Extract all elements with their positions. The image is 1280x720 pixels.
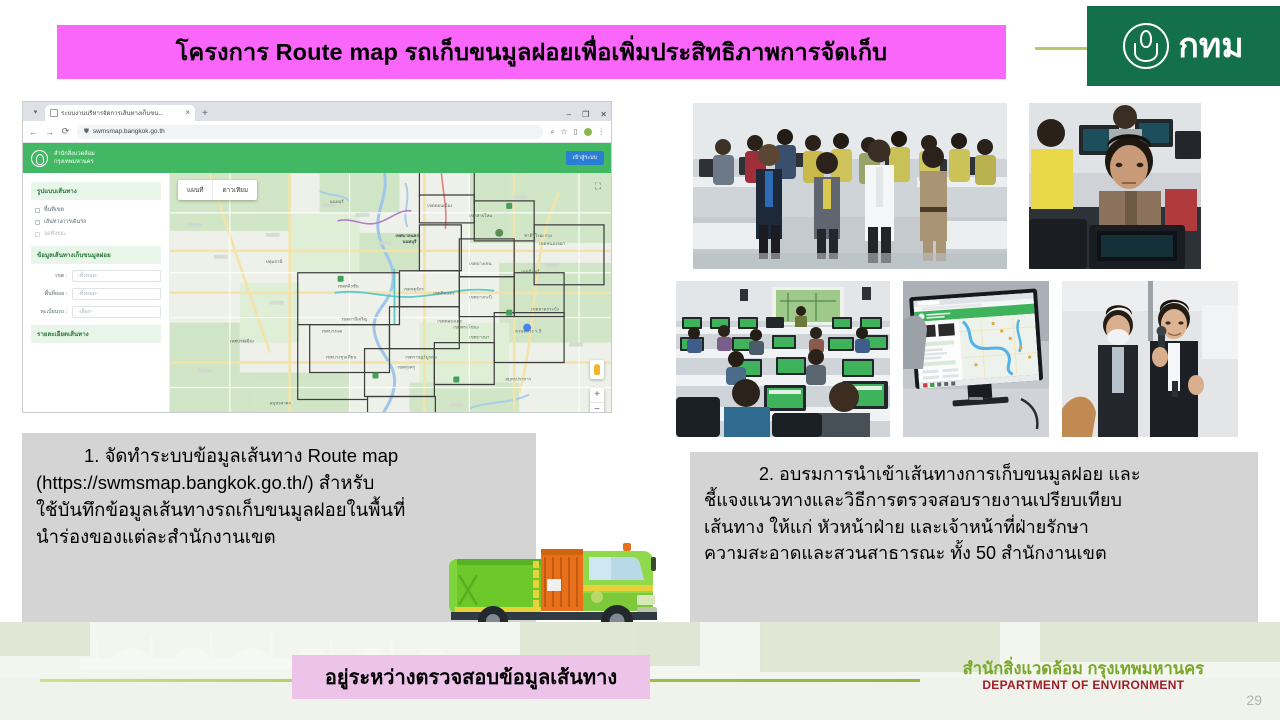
fullscreen-icon[interactable]: ⛶ <box>592 180 604 192</box>
svg-text:เขตราษฎร์บูรณะ: เขตราษฎร์บูรณะ <box>405 355 437 361</box>
svg-text:เขตบางเขน: เขตบางเขน <box>469 262 491 267</box>
bma-logo-label: กทม <box>1178 29 1243 63</box>
department-name-en: DEPARTMENT OF ENVIRONMENT <box>963 679 1204 693</box>
minimize-icon[interactable]: – <box>567 111 571 119</box>
window-controls: – ❐ ✕ <box>567 111 607 119</box>
field-district: เขต : -ทั้งหมด- <box>31 270 161 282</box>
zoom-out-button[interactable]: − <box>590 402 604 413</box>
map-tiles: เทศบาลนคร นนทบุรี นนทบุรี เขตดอนเมือง เข… <box>170 173 611 413</box>
webapp-sidebar: รูปแบบเส้นทาง พื้นที่เขต เส้นทางการเดินร… <box>23 173 170 413</box>
field-label: เขต : <box>31 270 67 280</box>
photo-computer-lab-art <box>676 281 890 437</box>
svg-text:ชาติวิโรฒ กรุง: ชาติวิโรฒ กรุง <box>524 232 552 239</box>
svg-text:เขตบางนา: เขตบางนา <box>469 336 490 341</box>
browser-tab-title: ระบบงานบริหารจัดการเส้นทางเก็บขน... <box>61 108 182 118</box>
webapp-header: สำนักสิ่งแวดล้อม กรุงเทพมหานคร เข้าสู่ระ… <box>23 143 611 173</box>
webapp-body: รูปแบบเส้นทาง พื้นที่เขต เส้นทางการเดินร… <box>23 173 611 413</box>
checkbox-icon <box>35 220 40 225</box>
caption-1-line-1: 1. จัดทำระบบข้อมูลเส้นทาง Route map <box>36 442 522 469</box>
checkbox-label: จุดทิ้งขยะ <box>44 230 67 238</box>
reload-icon[interactable]: ⟳ <box>61 126 70 137</box>
svg-text:นนทบุรี: นนทบุรี <box>402 239 417 245</box>
svg-text:เขตบางกะปิ: เขตบางกะปิ <box>469 295 492 301</box>
photo-monitor-routemap-art <box>903 281 1049 437</box>
close-window-icon[interactable]: ✕ <box>600 111 607 119</box>
field-plate: ทะเบียนรถ : -เลือก- <box>31 306 161 318</box>
browser-tab[interactable]: ระบบงานบริหารจัดการเส้นทางเก็บขน... × <box>45 105 195 121</box>
svg-text:เขตลาดกระบัง: เขตลาดกระบัง <box>531 307 559 313</box>
webapp-org-line2: กรุงเทพมหานคร <box>54 158 95 166</box>
photo-trainee-seated <box>1029 103 1201 269</box>
field-label: พื้นที่ย่อย : <box>31 288 67 298</box>
photo-monitor-routemap <box>903 281 1049 437</box>
map-viewport[interactable]: เทศบาลนคร นนทบุรี นนทบุรี เขตดอนเมือง เข… <box>170 173 611 413</box>
caption-1-line-2: (https://swmsmap.bangkok.go.th/) สำหรับ <box>36 469 522 496</box>
page-number: 29 <box>1246 692 1262 708</box>
pegman-figure <box>594 364 600 375</box>
svg-text:เขตคลองเตย: เขตคลองเตย <box>437 320 462 325</box>
svg-text:เขตมีนบุรี: เขตมีนบุรี <box>521 269 540 275</box>
address-bar[interactable]: ⛊ swmsmap.bangkok.go.th <box>77 125 543 139</box>
photo-computer-lab <box>676 281 890 437</box>
status-badge: อยู่ระหว่างตรวจสอบข้อมูลเส้นทาง <box>292 655 650 699</box>
profile-avatar[interactable] <box>584 128 592 136</box>
sidebar-section-route-data: ข้อมูลเส้นทางเก็บขนมูลฝอย <box>31 246 161 264</box>
close-icon[interactable]: × <box>185 109 190 117</box>
photo-presenters-art <box>1062 281 1238 437</box>
caption-1-line-3: ใช้บันทึกข้อมูลเส้นทางรถเก็บขนมูลฝอยในพื… <box>36 496 522 523</box>
svg-text:สมุทรปราการ: สมุทรปราการ <box>505 377 531 383</box>
slide-root: โครงการ Route map รถเก็บขนมูลฝอยเพื่อเพิ… <box>0 0 1280 720</box>
webapp-org-name: สำนักสิ่งแวดล้อม กรุงเทพมหานคร <box>54 150 95 167</box>
caption-2-line-4: ความสะอาดและสวนสาธารณะ ทั้ง 50 สำนักงานเ… <box>704 540 1244 566</box>
back-icon[interactable]: ← <box>29 127 38 137</box>
svg-text:เทศบาลนคร: เทศบาลนคร <box>395 233 419 239</box>
checkbox-icon <box>35 208 40 213</box>
svg-text:เขตภาษีเจริญ: เขตภาษีเจริญ <box>342 317 368 323</box>
checkbox-label: พื้นที่เขต <box>44 206 64 214</box>
kebab-menu-icon[interactable]: ⋮ <box>598 128 606 136</box>
page-title: โครงการ Route map รถเก็บขนมูลฝอยเพื่อเพิ… <box>176 34 887 71</box>
checkbox-label: เส้นทางการเดินรถ <box>44 218 86 226</box>
zoom-in-button[interactable]: + <box>590 388 604 402</box>
bookmark-star-icon[interactable]: ☆ <box>561 128 568 136</box>
sidebar-section-route-detail: รายละเอียดเส้นทาง <box>31 325 161 343</box>
photo-trainee-seated-art <box>1029 103 1201 269</box>
caption-2-line-2: ชี้แจงแนวทางและวิธีการตรวจสอบรายงานเปรีย… <box>704 487 1244 513</box>
svg-text:เขตพระโขนง: เขตพระโขนง <box>453 324 478 331</box>
map-tab-satellite[interactable]: ดาวเทียม <box>212 180 257 200</box>
site-info-icon[interactable]: ⛊ <box>84 128 89 136</box>
svg-text:เขตหนองจอก: เขตหนองจอก <box>539 242 565 247</box>
caption-2-line-1: 2. อบรมการนำเข้าเส้นทางการเก็บขนมูลฝอย แ… <box>704 461 1244 487</box>
status-badge-label: อยู่ระหว่างตรวจสอบข้อมูลเส้นทาง <box>325 661 617 693</box>
department-name-th: สำนักสิ่งแวดล้อม กรุงเทพมหานคร <box>963 660 1204 679</box>
photo-group-officials-art <box>693 103 1007 269</box>
map-type-tabs: แผนที่ ดาวเทียม <box>178 180 257 200</box>
svg-text:เทศบาลเมือง: เทศบาลเมือง <box>230 338 254 345</box>
checkbox-district-area[interactable]: พื้นที่เขต <box>35 206 161 214</box>
favicon-icon <box>50 109 58 117</box>
checkbox-dump-point: จุดทิ้งขยะ <box>35 230 161 238</box>
svg-text:เขตบางขุนเทียน: เขตบางขุนเทียน <box>326 355 357 361</box>
address-bar-url: swmsmap.bangkok.go.th <box>93 128 165 135</box>
browser-omnibar: ← → ⟳ ⛊ swmsmap.bangkok.go.th ⌕ ☆ ▯ ⋮ <box>23 121 611 143</box>
subarea-select[interactable]: -ทั้งหมด- <box>72 288 161 300</box>
map-zoom-controls: + − <box>590 388 604 413</box>
login-button[interactable]: เข้าสู่ระบบ <box>566 151 604 165</box>
svg-text:เขตสายไหม: เขตสายไหม <box>469 213 492 219</box>
svg-text:สมุทรสาคร: สมุทรสาคร <box>270 400 292 406</box>
field-label: ทะเบียนรถ : <box>31 306 67 316</box>
omnibar-actions: ⌕ ☆ ▯ ⋮ <box>550 128 605 136</box>
svg-text:เขตดินแดง: เขตดินแดง <box>433 291 454 297</box>
field-subarea: พื้นที่ย่อย : -ทั้งหมด- <box>31 288 161 300</box>
forward-icon[interactable]: → <box>45 127 54 137</box>
tab-search-chevron-icon[interactable]: ▾ <box>29 105 42 118</box>
svg-text:เขตดอนเมือง: เขตดอนเมือง <box>427 202 452 209</box>
caption-2-line-3: เส้นทาง ให้แก่ หัวหน้าฝ่าย และเจ้าหน้าที… <box>704 514 1244 540</box>
bma-seal-icon <box>1123 23 1169 69</box>
sidebar-section-route-type: รูปแบบเส้นทาง <box>31 182 161 200</box>
bma-logo-block: กทม <box>1087 6 1280 86</box>
sidepanel-icon[interactable]: ▯ <box>573 128 577 136</box>
zoom-icon[interactable]: ⌕ <box>550 128 554 136</box>
photo-presenters <box>1062 281 1238 437</box>
maximize-icon[interactable]: ❐ <box>582 111 589 119</box>
svg-text:เขตจตุจักร: เขตจตุจักร <box>403 287 424 293</box>
svg-text:ปทุมธานี: ปทุมธานี <box>266 259 283 265</box>
photo-group-officials <box>693 103 1007 269</box>
svg-text:นนทบุรี: นนทบุรี <box>330 199 345 205</box>
plate-select[interactable]: -เลือก- <box>72 306 161 318</box>
browser-screenshot: ▾ ระบบงานบริหารจัดการเส้นทางเก็บขน... × … <box>22 101 612 413</box>
svg-text:สวนหลวง ร.9: สวนหลวง ร.9 <box>515 329 541 335</box>
street-view-pegman-icon[interactable] <box>590 360 604 379</box>
department-signature: สำนักสิ่งแวดล้อม กรุงเทพมหานคร DEPARTMEN… <box>963 660 1204 693</box>
svg-text:เขตตลิ่งชัน: เขตตลิ่งชัน <box>338 283 359 290</box>
webapp-seal-icon <box>31 150 48 167</box>
webapp-org-line1: สำนักสิ่งแวดล้อม <box>54 150 95 158</box>
district-select[interactable]: -ทั้งหมด- <box>72 270 161 282</box>
map-tab-roadmap[interactable]: แผนที่ <box>178 180 212 200</box>
checkbox-icon <box>35 232 40 237</box>
svg-text:เขตทุ่งครุ: เขตทุ่งครุ <box>397 365 415 371</box>
caption-box-2: 2. อบรมการนำเข้าเส้นทางการเก็บขนมูลฝอย แ… <box>690 452 1258 637</box>
checkbox-vehicle-route[interactable]: เส้นทางการเดินรถ <box>35 218 161 226</box>
browser-tab-strip: ▾ ระบบงานบริหารจัดการเส้นทางเก็บขน... × … <box>23 102 611 121</box>
slide-title-band: โครงการ Route map รถเก็บขนมูลฝอยเพื่อเพิ… <box>57 25 1006 79</box>
new-tab-button[interactable]: + <box>202 108 208 119</box>
svg-text:เขตบางแค: เขตบางแค <box>322 330 343 335</box>
